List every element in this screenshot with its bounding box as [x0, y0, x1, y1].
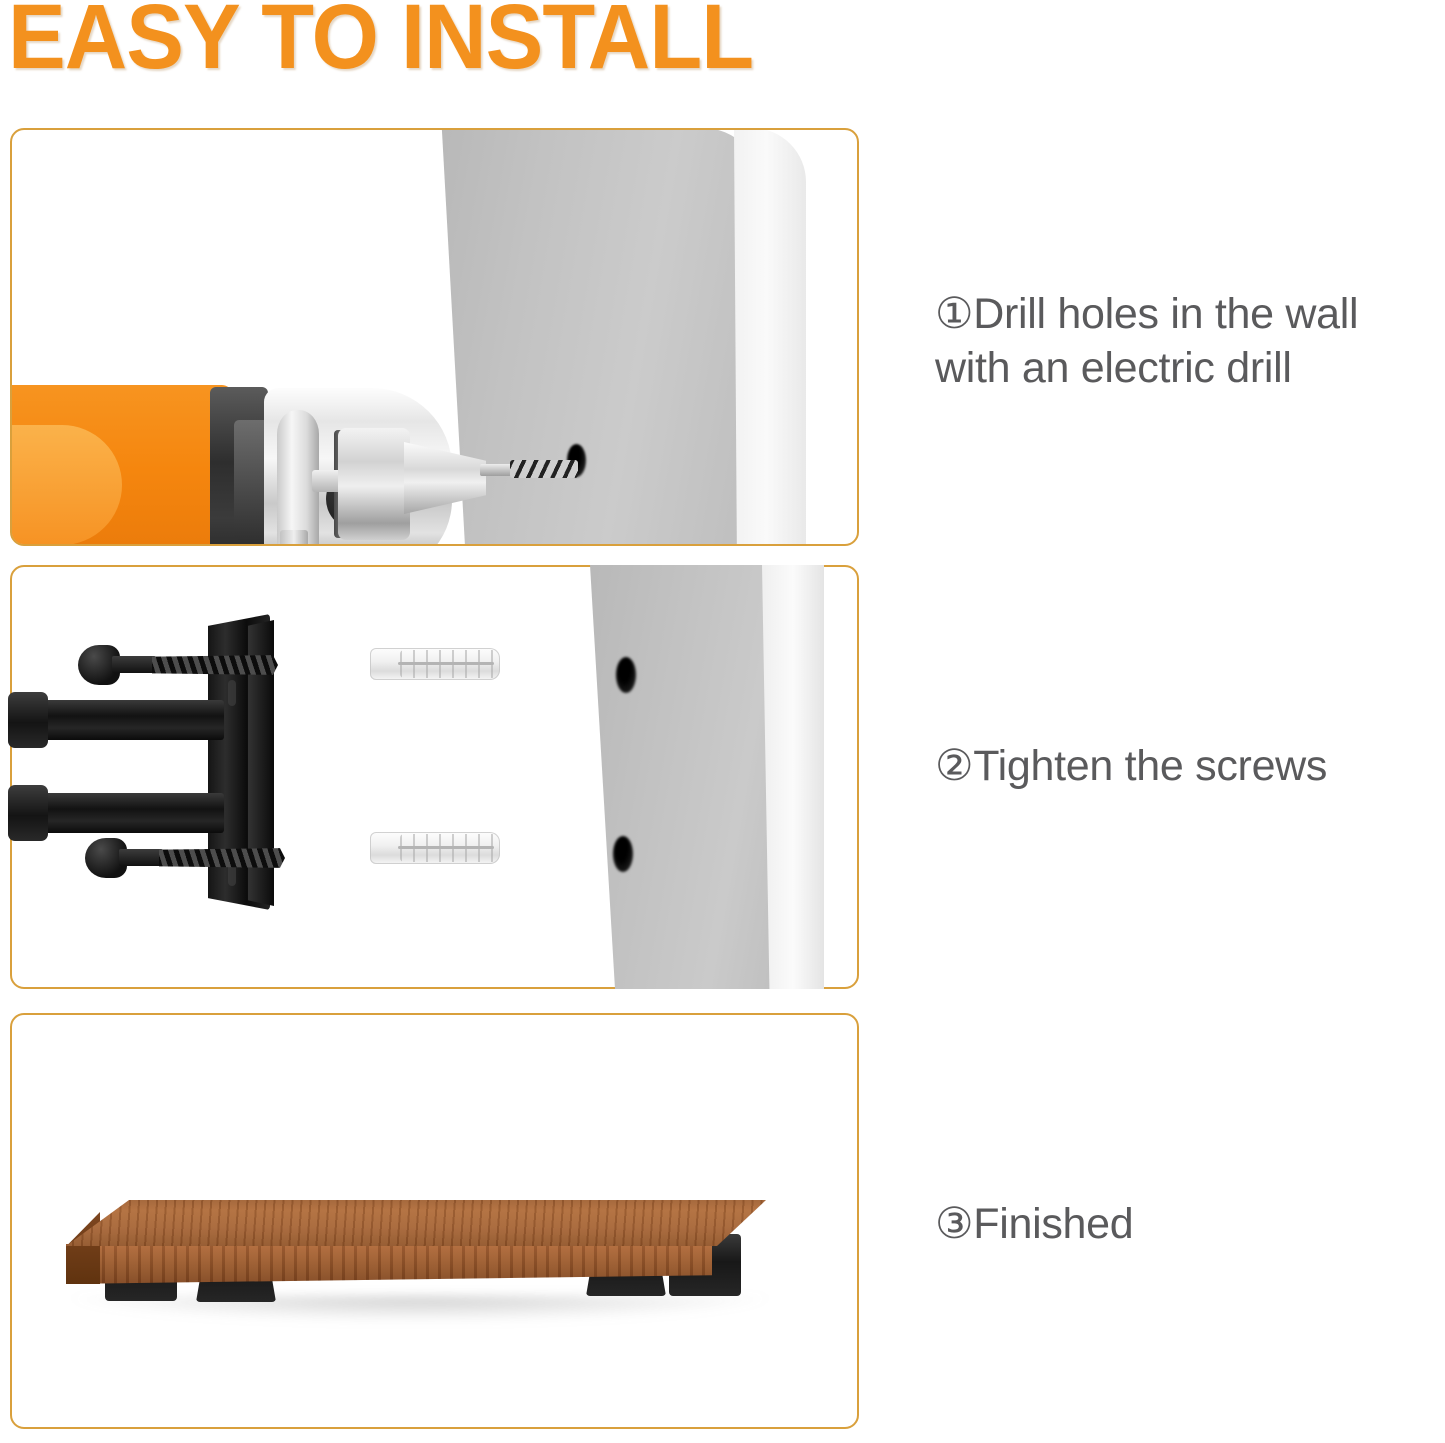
shelf-top-grain-icon [66, 1200, 766, 1246]
page-title: EASY TO INSTALL [8, 0, 753, 89]
bracket-rod-icon-top [38, 700, 224, 740]
drill-bit-icon [510, 460, 578, 478]
drilled-hole-icon-top [616, 657, 636, 693]
wall-anchor-icon-top [370, 648, 500, 680]
screw-shank-icon [112, 656, 156, 673]
bracket-slot-icon-top [228, 680, 236, 706]
wall-anchor-icon-bottom [370, 832, 500, 864]
step-1-caption: ①Drill holes in the wall with an electri… [935, 288, 1445, 396]
step-3-caption: ③Finished [935, 1198, 1445, 1252]
wall-edge-icon [734, 128, 806, 546]
screw-shank-icon [119, 849, 163, 866]
wall-edge-icon-2 [762, 565, 824, 989]
wall-anchor-slot-icon [398, 846, 494, 849]
drilled-hole-icon-bottom [613, 836, 633, 872]
drill-chuck-icon [338, 428, 410, 540]
bracket-rod-cap-icon-bottom [8, 785, 48, 841]
bracket-rod-icon-bottom [38, 793, 224, 833]
step-1-illustration-panel [10, 128, 859, 546]
wall-anchor-slot-icon [398, 662, 494, 665]
bracket-rod-cap-icon-top [8, 692, 48, 748]
drill-handle-post-icon [280, 530, 308, 546]
step-2-caption: ②Tighten the screws [935, 740, 1445, 794]
